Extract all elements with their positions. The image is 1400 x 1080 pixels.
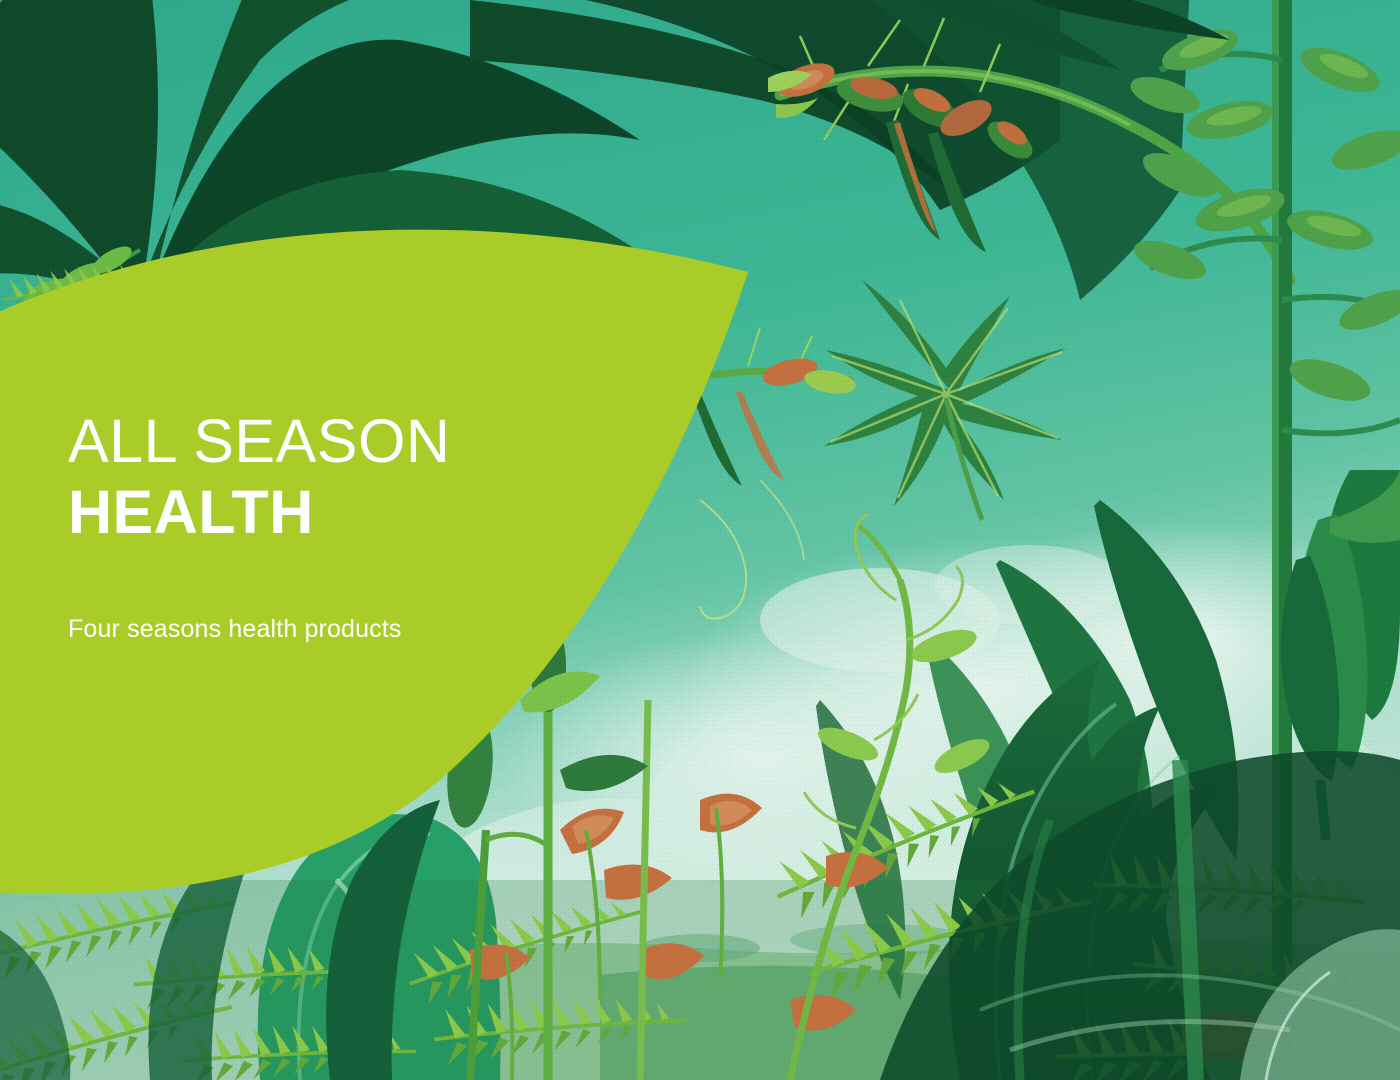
headline-block: ALL SEASON HEALTH Four seasons health pr… xyxy=(68,406,668,644)
title-line-2: HEALTH xyxy=(68,477,668,548)
title-line-1: ALL SEASON xyxy=(68,406,668,477)
poster-subtitle: Four seasons health products xyxy=(68,615,668,644)
poster-canvas: ALL SEASON HEALTH Four seasons health pr… xyxy=(0,0,1400,1080)
